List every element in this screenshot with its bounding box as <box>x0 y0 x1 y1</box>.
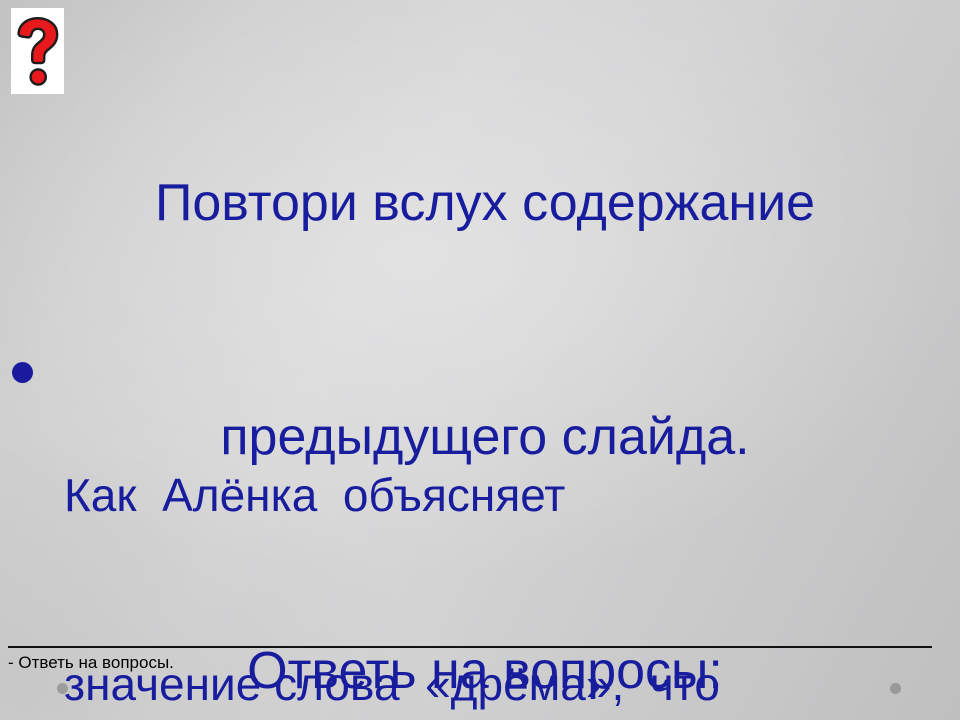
body-line-1: Как Алёнка объясняет <box>64 464 940 527</box>
body-line-2: значение слова «дрёма», что <box>64 653 940 716</box>
question-mark-icon <box>11 8 64 94</box>
footer-divider <box>8 646 932 648</box>
decoration-dot-left <box>57 683 68 694</box>
bullet-dot-icon <box>12 362 33 383</box>
footer-note: - Ответь на вопросы. <box>8 652 174 674</box>
decoration-dot-right <box>890 683 901 694</box>
list-item-text: Как Алёнка объясняет значение слова «дрё… <box>64 338 940 720</box>
title-line-1: Повтори вслух содержание <box>70 164 900 242</box>
presentation-slide: Повтори вслух содержание предыдущего сла… <box>0 0 960 720</box>
